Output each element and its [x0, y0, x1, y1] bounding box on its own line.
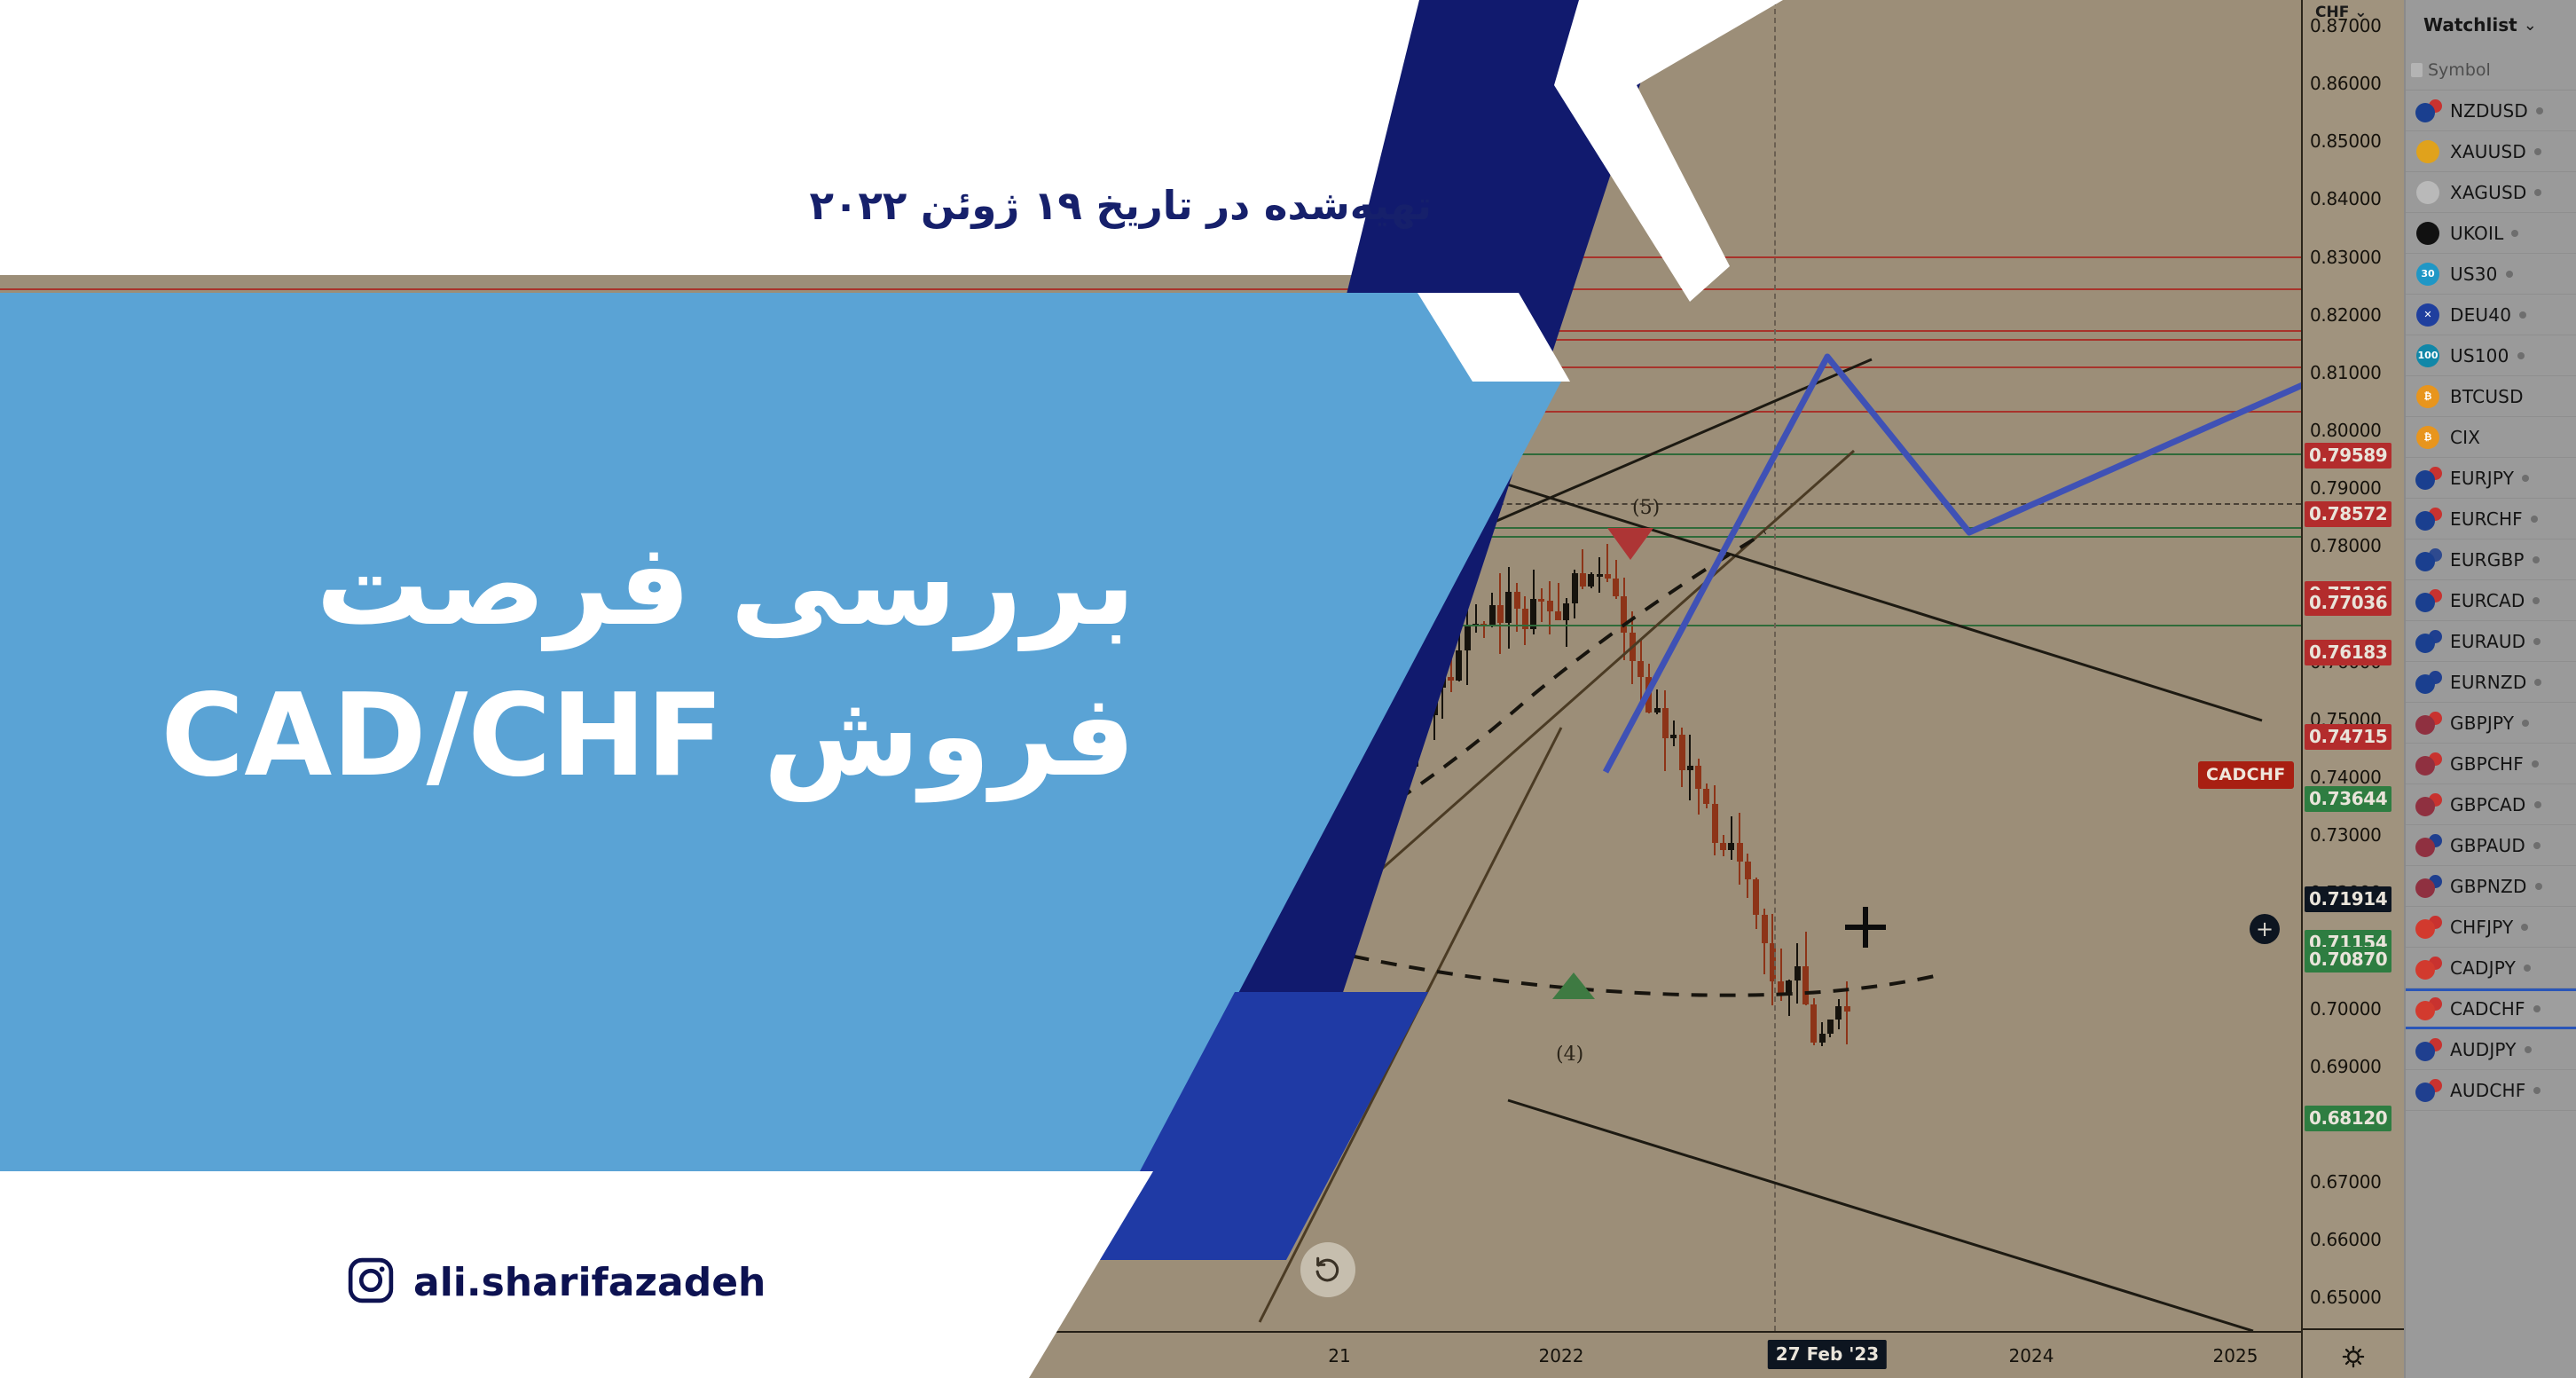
- price-tick: 0.66000: [2303, 1229, 2404, 1250]
- candlestick: [1778, 949, 1784, 1001]
- gbpnzd-icon: [2415, 875, 2442, 898]
- price-tag-support[interactable]: 0.68120: [2305, 1106, 2391, 1131]
- price-tick: 0.86000: [2303, 73, 2404, 94]
- candlestick: [1802, 932, 1809, 1005]
- candlestick: [1819, 1022, 1826, 1046]
- candlestick: [1795, 943, 1801, 1004]
- candlestick: [1645, 664, 1652, 714]
- watchlist-title: Watchlist: [2423, 14, 2517, 35]
- price-tag-resistance[interactable]: 0.78572: [2305, 501, 2391, 527]
- status-dot: [2533, 597, 2540, 604]
- watchlist-item-label: US30: [2450, 264, 2498, 285]
- plus-circle-icon[interactable]: +: [2250, 914, 2280, 944]
- candlestick: [1737, 813, 1743, 885]
- btcusd-icon: ₿: [2415, 385, 2442, 408]
- watchlist-item-label: AUDCHF: [2450, 1080, 2525, 1101]
- candlestick: [1786, 980, 1792, 1017]
- watchlist-item-label: CADCHF: [2450, 998, 2525, 1020]
- candlestick: [1687, 735, 1693, 800]
- price-tag-support[interactable]: 0.70870: [2305, 947, 2391, 972]
- watchlist-item-us100[interactable]: 100US100: [2406, 335, 2576, 376]
- undo-icon[interactable]: [1300, 1242, 1355, 1297]
- candlestick: [1637, 639, 1644, 703]
- watchlist-item-deu40[interactable]: ✕DEU40: [2406, 295, 2576, 335]
- status-dot: [2506, 271, 2513, 278]
- time-tick: 27 Feb '23: [1768, 1340, 1887, 1369]
- checkbox-icon[interactable]: [2411, 63, 2423, 77]
- eurcad-icon: [2415, 589, 2442, 612]
- eurjpy-icon: [2415, 467, 2442, 490]
- candlestick: [1630, 611, 1636, 684]
- candlestick: [1810, 998, 1817, 1045]
- watchlist-item-gbpcad[interactable]: GBPCAD: [2406, 784, 2576, 825]
- watchlist-item-gbpnzd[interactable]: GBPNZD: [2406, 866, 2576, 907]
- watchlist-item-cadjpy[interactable]: CADJPY: [2406, 948, 2576, 988]
- watchlist-item-eurgbp[interactable]: EURGBP: [2406, 539, 2576, 580]
- time-axis[interactable]: 21202227 Feb '2320242025: [0, 1331, 2301, 1378]
- watchlist-item-btcusd[interactable]: ₿BTCUSD: [2406, 376, 2576, 417]
- axis-divider: [2303, 1328, 2406, 1330]
- status-dot: [2522, 475, 2529, 482]
- watchlist-item-label: UKOIL: [2450, 223, 2503, 244]
- price-tick: 0.82000: [2303, 304, 2404, 326]
- status-dot: [2511, 230, 2518, 237]
- symbol-column-label: Symbol: [2428, 60, 2491, 80]
- candlestick: [1588, 572, 1594, 588]
- watchlist-item-label: EURAUD: [2450, 631, 2525, 652]
- nzdusd-icon: [2415, 99, 2442, 122]
- euraud-icon: [2415, 630, 2442, 653]
- candlestick: [1580, 549, 1586, 589]
- price-tick: 0.69000: [2303, 1056, 2404, 1077]
- candlestick: [1563, 598, 1569, 647]
- screenshot-root: (5) (4) CADCHF + CHF ⌄: [0, 0, 2576, 1378]
- price-tick: 0.87000: [2303, 15, 2404, 36]
- status-dot: [2521, 924, 2528, 931]
- price-tick: 0.67000: [2303, 1171, 2404, 1193]
- watchlist-item-eurnzd[interactable]: EURNZD: [2406, 662, 2576, 703]
- candlestick: [1522, 596, 1528, 645]
- candlestick: [1695, 759, 1701, 815]
- watchlist-item-xauusd[interactable]: XAUUSD: [2406, 131, 2576, 172]
- buy-marker-up-icon: [1552, 972, 1595, 999]
- price-tick: 0.84000: [2303, 188, 2404, 209]
- price-tick: 0.78000: [2303, 535, 2404, 556]
- watchlist-item-euraud[interactable]: EURAUD: [2406, 621, 2576, 662]
- status-dot: [2519, 311, 2526, 319]
- gbpchf-icon: [2415, 752, 2442, 776]
- cix-icon: ₿: [2415, 426, 2442, 449]
- watchlist-item-audchf[interactable]: AUDCHF: [2406, 1070, 2576, 1111]
- chevron-down-icon[interactable]: ⌄: [2524, 16, 2537, 35]
- us100-icon: 100: [2415, 344, 2442, 367]
- watchlist-item-label: XAUUSD: [2450, 141, 2526, 162]
- watchlist-item-label: GBPCHF: [2450, 753, 2524, 775]
- watchlist-item-label: GBPJPY: [2450, 713, 2514, 734]
- watchlist-item-label: XAGUSD: [2450, 182, 2526, 203]
- gbpjpy-icon: [2415, 712, 2442, 735]
- candlestick: [1555, 583, 1561, 620]
- candlestick: [1844, 981, 1850, 1044]
- crosshair-icon: [1845, 907, 1886, 948]
- watchlist-item-label: EURJPY: [2450, 468, 2514, 489]
- ukoil-icon: [2415, 222, 2442, 245]
- candlestick: [1728, 816, 1734, 861]
- price-tick: 0.81000: [2303, 362, 2404, 383]
- gbpaud-icon: [2415, 834, 2442, 857]
- title-block: بررسی فرصت فروش CAD/CHF: [0, 302, 1508, 1180]
- candlestick: [1538, 588, 1544, 622]
- time-tick: 2024: [2009, 1345, 2054, 1366]
- watchlist-item-label: DEU40: [2450, 304, 2511, 326]
- time-tick: 21: [1328, 1345, 1350, 1366]
- candlestick: [1745, 854, 1751, 898]
- candlestick: [1762, 909, 1768, 974]
- cadchf-icon: [2415, 997, 2442, 1020]
- eurgbp-icon: [2415, 548, 2442, 571]
- watchlist-item-chfjpy[interactable]: CHFJPY: [2406, 907, 2576, 948]
- watchlist-item-ukoil[interactable]: UKOIL: [2406, 213, 2576, 254]
- price-tick: 0.65000: [2303, 1287, 2404, 1308]
- watchlist-item-label: CHFJPY: [2450, 917, 2513, 938]
- watchlist-item-eurcad[interactable]: EURCAD: [2406, 580, 2576, 621]
- price-tick: 0.85000: [2303, 130, 2404, 152]
- watchlist-item-label: GBPAUD: [2450, 835, 2525, 856]
- status-dot: [2522, 720, 2529, 727]
- audjpy-icon: [2415, 1038, 2442, 1061]
- candlestick: [1827, 1020, 1834, 1037]
- time-tick: 2025: [2213, 1345, 2258, 1366]
- watchlist-item-eurchf[interactable]: EURCHF: [2406, 499, 2576, 539]
- watchlist-header[interactable]: Watchlist ⌄: [2406, 0, 2576, 50]
- candlestick: [1712, 785, 1718, 855]
- watchlist-item-gbpchf[interactable]: GBPCHF: [2406, 744, 2576, 784]
- status-dot: [2536, 107, 2543, 114]
- eurchf-icon: [2415, 508, 2442, 531]
- watchlist-item-label: US100: [2450, 345, 2509, 366]
- status-dot: [2534, 801, 2541, 808]
- price-tick: 0.80000: [2303, 420, 2404, 441]
- watchlist-panel[interactable]: Watchlist ⌄ Symbol NZDUSDXAUUSDXAGUSDUKO…: [2404, 0, 2576, 1378]
- price-tag-resistance[interactable]: 0.76183: [2305, 640, 2391, 665]
- status-dot: [2534, 148, 2541, 155]
- price-tick: 0.83000: [2303, 247, 2404, 268]
- instagram-icon: [346, 1256, 396, 1309]
- level-line-resistance: [0, 256, 2301, 258]
- watchlist-item-cix[interactable]: ₿CIX: [2406, 417, 2576, 458]
- candlestick: [1654, 689, 1661, 714]
- watchlist-item-nzdusd[interactable]: NZDUSD: [2406, 91, 2576, 131]
- watchlist-item-label: AUDJPY: [2450, 1039, 2517, 1060]
- watchlist-item-label: CIX: [2450, 427, 2480, 448]
- xagusd-icon: [2415, 181, 2442, 204]
- eurnzd-icon: [2415, 671, 2442, 694]
- cadjpy-icon: [2415, 957, 2442, 980]
- instagram-handle: ali.sharifazadeh: [413, 1260, 766, 1305]
- candlestick: [1679, 728, 1685, 788]
- sell-marker-down-icon: [1607, 528, 1653, 560]
- watchlist-item-label: EURGBP: [2450, 549, 2525, 571]
- candlestick: [1621, 578, 1627, 660]
- status-dot: [2533, 1087, 2541, 1094]
- time-tick: 2022: [1539, 1345, 1584, 1366]
- candlestick: [1703, 783, 1709, 808]
- watchlist-item-us30[interactable]: 30US30: [2406, 254, 2576, 295]
- status-dot: [2532, 760, 2539, 768]
- audchf-icon: [2415, 1079, 2442, 1102]
- watchlist-item-cadchf[interactable]: CADCHF: [2406, 988, 2576, 1029]
- price-tick: 0.70000: [2303, 998, 2404, 1020]
- price-tag-resistance[interactable]: 0.77036: [2305, 590, 2391, 616]
- watchlist-item-label: BTCUSD: [2450, 386, 2524, 407]
- watchlist-column-header[interactable]: Symbol: [2406, 50, 2576, 91]
- price-tick: 0.74000: [2303, 767, 2404, 788]
- watchlist-item-audjpy[interactable]: AUDJPY: [2406, 1029, 2576, 1070]
- status-dot: [2531, 516, 2538, 523]
- watchlist-item-gbpjpy[interactable]: GBPJPY: [2406, 703, 2576, 744]
- watchlist-item-label: NZDUSD: [2450, 100, 2528, 122]
- status-dot: [2534, 679, 2541, 686]
- price-tag-last-price[interactable]: 0.71914: [2305, 886, 2391, 912]
- watchlist-item-label: EURCAD: [2450, 590, 2525, 611]
- status-dot: [2524, 965, 2531, 972]
- status-dot: [2533, 1005, 2541, 1012]
- page-title-line-1: بررسی فرصت: [316, 519, 1135, 651]
- candlestick: [1835, 999, 1842, 1029]
- chfjpy-icon: [2415, 916, 2442, 939]
- candlestick: [1613, 560, 1619, 599]
- watchlist-item-label: GBPNZD: [2450, 876, 2527, 897]
- candlestick: [1753, 878, 1759, 928]
- gear-icon[interactable]: [2341, 1344, 2366, 1373]
- price-tag-resistance[interactable]: 0.74715: [2305, 724, 2391, 750]
- status-dot: [2535, 883, 2542, 890]
- price-axis[interactable]: CHF ⌄ 0.870000.860000.850000.840000.8300…: [2301, 0, 2404, 1378]
- wave-label-4: (4): [1556, 1043, 1583, 1066]
- subtitle-text: تهیه‌شده در تاریخ ۱۹ ژوئن ۲۰۲۲: [758, 182, 1432, 229]
- gbpcad-icon: [2415, 793, 2442, 816]
- watchlist-item-label: GBPCAD: [2450, 794, 2526, 815]
- price-tag-resistance[interactable]: 0.79589: [2305, 443, 2391, 469]
- price-tick: 0.79000: [2303, 477, 2404, 499]
- page-title-line-2: فروش CAD/CHF: [161, 670, 1135, 802]
- xauusd-icon: [2415, 140, 2442, 163]
- status-dot: [2533, 842, 2541, 849]
- price-tick: 0.73000: [2303, 824, 2404, 846]
- symbol-price-tag: CADCHF: [2198, 761, 2294, 789]
- status-dot: [2534, 189, 2541, 196]
- watchlist-item-xagusd[interactable]: XAGUSD: [2406, 172, 2576, 213]
- deu40-icon: ✕: [2415, 303, 2442, 327]
- status-dot: [2533, 638, 2541, 645]
- candlestick: [1572, 570, 1578, 618]
- candlestick: [1662, 690, 1669, 771]
- candlestick: [1597, 557, 1603, 593]
- wave-label-5: (5): [1632, 497, 1660, 519]
- status-dot: [2533, 556, 2540, 563]
- price-tag-support[interactable]: 0.73644: [2305, 786, 2391, 812]
- watchlist-item-label: EURNZD: [2450, 672, 2526, 693]
- candlestick: [1670, 720, 1677, 746]
- candlestick: [1720, 835, 1726, 856]
- level-line-resistance: [0, 288, 2301, 290]
- status-dot: [2517, 352, 2525, 359]
- watchlist-item-gbpaud[interactable]: GBPAUD: [2406, 825, 2576, 866]
- watchlist-item-eurjpy[interactable]: EURJPY: [2406, 458, 2576, 499]
- us30-icon: 30: [2415, 263, 2442, 286]
- watchlist-item-label: EURCHF: [2450, 508, 2523, 530]
- instagram-credit[interactable]: ali.sharifazadeh: [346, 1256, 766, 1309]
- time-cursor-line: [1774, 0, 1776, 1331]
- status-dot: [2525, 1046, 2532, 1053]
- watchlist-item-label: CADJPY: [2450, 957, 2516, 979]
